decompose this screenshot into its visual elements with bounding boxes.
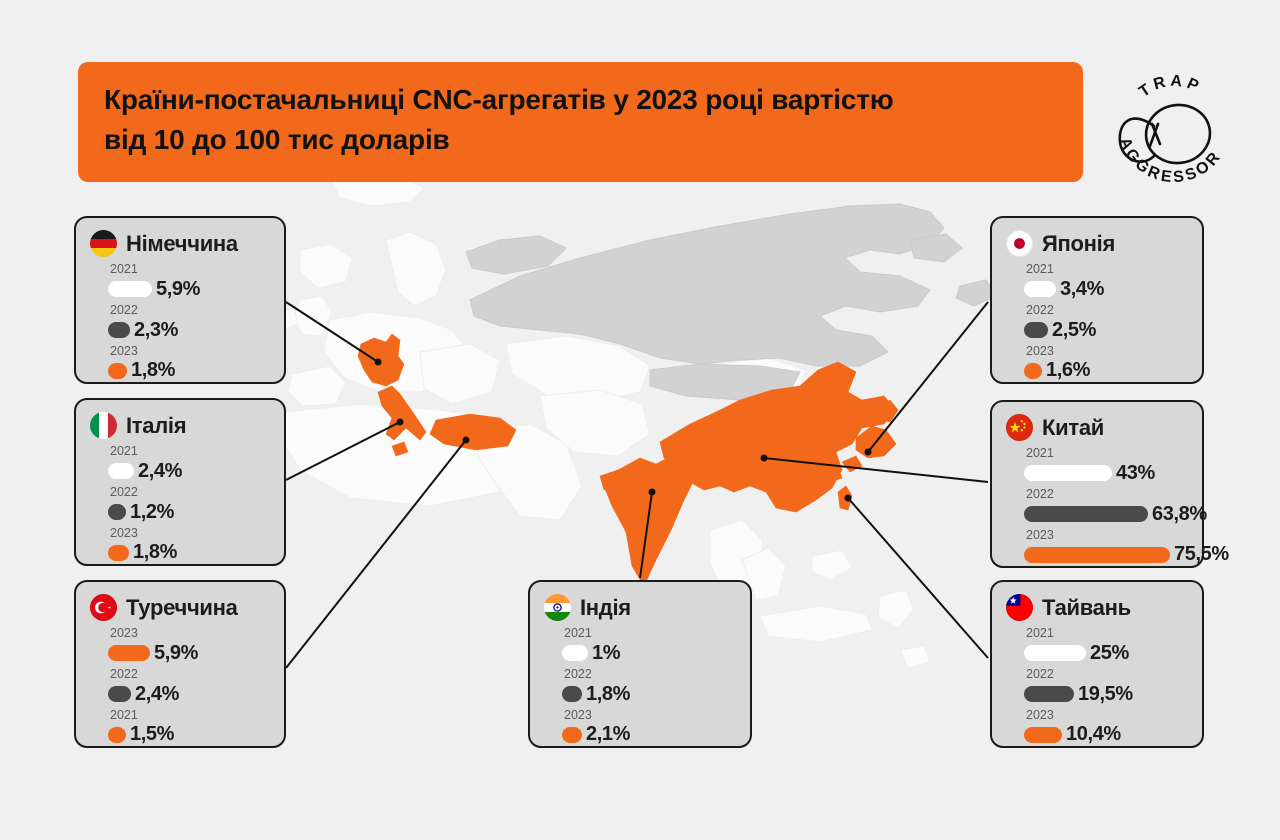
- bar-fill: [1024, 363, 1042, 379]
- bar-value: 5,9%: [156, 278, 200, 301]
- flag-icon-italy: [90, 412, 117, 439]
- card-header: Японія: [1006, 230, 1188, 257]
- bar-rows: 2021 5,9% 2022 2,3% 2023 1,8%: [90, 263, 270, 382]
- bar-year: 2023: [1026, 345, 1188, 359]
- country-card-china[interactable]: Китай 2021 43% 2022 63,8% 2023 75,5%: [990, 400, 1204, 568]
- infographic-canvas: Країни-постачальниці CNC-агрегатів у 202…: [0, 0, 1280, 840]
- bar-year: 2023: [564, 709, 736, 723]
- bar-value: 1,8%: [586, 683, 630, 706]
- bar-year: 2022: [110, 668, 270, 682]
- card-header: Німеччина: [90, 230, 270, 257]
- bar-rows: 2021 43% 2022 63,8% 2023 75,5%: [1006, 447, 1188, 566]
- bar-row: 2021 5,9%: [108, 263, 270, 301]
- card-header: Тайвань: [1006, 594, 1188, 621]
- country-card-germany[interactable]: Німеччина 2021 5,9% 2022 2,3% 2023 1,8%: [74, 216, 286, 384]
- bar-fill: [108, 322, 130, 338]
- bar-value: 19,5%: [1078, 683, 1133, 706]
- bar-fill: [562, 686, 582, 702]
- bar-fill: [1024, 322, 1048, 338]
- bar-value: 5,9%: [154, 642, 198, 665]
- bar-row: 2023 1,8%: [108, 527, 270, 565]
- map-country-japan-honshu: [856, 426, 896, 458]
- bar-row: 2022 19,5%: [1024, 668, 1188, 706]
- country-name: Індія: [580, 595, 631, 621]
- card-header: Індія: [544, 594, 736, 621]
- bar-row: 2021 1%: [562, 627, 736, 665]
- bar-year: 2022: [1026, 304, 1188, 318]
- bar-value: 2,5%: [1052, 319, 1096, 342]
- bar-rows: 2023 5,9% 2022 2,4% 2021 1,5%: [90, 627, 270, 746]
- svg-text:TRAP: TRAP: [1136, 73, 1204, 101]
- bar-fill: [562, 727, 582, 743]
- flag-icon-turkey: [90, 594, 117, 621]
- bar-fill: [108, 463, 134, 479]
- bar-year: 2023: [110, 627, 270, 641]
- bar-fill: [108, 545, 129, 561]
- bar-fill: [1024, 281, 1056, 297]
- bar-year: 2023: [1026, 529, 1188, 543]
- bar-row: 2023 5,9%: [108, 627, 270, 665]
- flag-icon-japan: [1006, 230, 1033, 257]
- bar-year: 2021: [110, 445, 270, 459]
- bar-year: 2021: [110, 709, 270, 723]
- country-name: Італія: [126, 413, 186, 439]
- card-header: Італія: [90, 412, 270, 439]
- bar-fill: [108, 686, 131, 702]
- bar-year: 2021: [1026, 447, 1188, 461]
- flag-icon-taiwan: [1006, 594, 1033, 621]
- bar-fill: [1024, 506, 1148, 522]
- bar-fill: [1024, 686, 1074, 702]
- bar-row: 2022 1,2%: [108, 486, 270, 524]
- bar-value: 2,4%: [138, 460, 182, 483]
- bar-year: 2022: [564, 668, 736, 682]
- map-country-taiwan: [838, 486, 852, 510]
- bar-rows: 2021 25% 2022 19,5% 2023 10,4%: [1006, 627, 1188, 746]
- logo-top-text: TRAP: [1136, 73, 1204, 101]
- bar-value: 3,4%: [1060, 278, 1104, 301]
- country-name: Туреччина: [126, 595, 238, 621]
- card-header: Китай: [1006, 414, 1188, 441]
- bar-row: 2021 2,4%: [108, 445, 270, 483]
- bar-fill: [108, 281, 152, 297]
- bar-fill: [1024, 727, 1062, 743]
- bar-value: 10,4%: [1066, 723, 1121, 746]
- bar-row: 2022 1,8%: [562, 668, 736, 706]
- bar-row: 2021 43%: [1024, 447, 1188, 485]
- bar-year: 2023: [1026, 709, 1188, 723]
- bar-value: 2,4%: [135, 683, 179, 706]
- bar-row: 2023 1,6%: [1024, 345, 1188, 383]
- bar-year: 2021: [1026, 627, 1188, 641]
- bar-year: 2022: [110, 304, 270, 318]
- country-card-japan[interactable]: Японія 2021 3,4% 2022 2,5% 2023 1,6%: [990, 216, 1204, 384]
- bar-fill: [108, 504, 126, 520]
- trap-aggressor-logo: TRAP AGGRESSOR: [1102, 52, 1242, 192]
- bar-row: 2022 2,4%: [108, 668, 270, 706]
- card-header: Туреччина: [90, 594, 270, 621]
- bar-value: 63,8%: [1152, 503, 1207, 526]
- bar-value: 2,3%: [134, 319, 178, 342]
- bar-year: 2023: [110, 527, 270, 541]
- country-card-turkey[interactable]: Туреччина 2023 5,9% 2022 2,4% 2021 1,5%: [74, 580, 286, 748]
- bar-year: 2022: [1026, 488, 1188, 502]
- flag-icon-germany: [90, 230, 117, 257]
- page-title-line-1: Країни-постачальниці CNC-агрегатів у 202…: [104, 80, 1057, 120]
- bar-row: 2022 63,8%: [1024, 488, 1188, 526]
- country-name: Німеччина: [126, 231, 238, 257]
- bar-value: 1%: [592, 642, 620, 665]
- bar-fill: [1024, 547, 1170, 563]
- bar-year: 2023: [110, 345, 270, 359]
- bar-row: 2022 2,5%: [1024, 304, 1188, 342]
- bar-rows: 2021 3,4% 2022 2,5% 2023 1,6%: [1006, 263, 1188, 382]
- flag-icon-india: [544, 594, 571, 621]
- bar-value: 1,6%: [1046, 359, 1090, 382]
- bar-value: 43%: [1116, 462, 1155, 485]
- bar-rows: 2021 1% 2022 1,8% 2023 2,1%: [544, 627, 736, 746]
- country-card-italy[interactable]: Італія 2021 2,4% 2022 1,2% 2023 1,8%: [74, 398, 286, 566]
- bar-value: 1,2%: [130, 501, 174, 524]
- bar-row: 2021 3,4%: [1024, 263, 1188, 301]
- bar-row: 2021 1,5%: [108, 709, 270, 747]
- bar-row: 2023 1,8%: [108, 345, 270, 383]
- country-card-india[interactable]: Індія 2021 1% 2022 1,8% 2023 2,1%: [528, 580, 752, 748]
- country-name: Китай: [1042, 415, 1104, 441]
- bar-value: 2,1%: [586, 723, 630, 746]
- bar-year: 2022: [1026, 668, 1188, 682]
- page-title: Країни-постачальниці CNC-агрегатів у 202…: [78, 62, 1083, 182]
- bar-year: 2021: [564, 627, 736, 641]
- bar-value: 25%: [1090, 642, 1129, 665]
- bar-year: 2022: [110, 486, 270, 500]
- bar-year: 2021: [1026, 263, 1188, 277]
- bar-fill: [1024, 645, 1086, 661]
- bar-fill: [108, 645, 150, 661]
- bar-fill: [108, 363, 127, 379]
- flag-icon-china: [1006, 414, 1033, 441]
- bar-row: 2023 2,1%: [562, 709, 736, 747]
- country-name: Тайвань: [1042, 595, 1131, 621]
- page-title-line-2: від 10 до 100 тис доларів: [104, 120, 1057, 160]
- bar-fill: [1024, 465, 1112, 481]
- bar-rows: 2021 2,4% 2022 1,2% 2023 1,8%: [90, 445, 270, 564]
- bar-year: 2021: [110, 263, 270, 277]
- bar-value: 75,5%: [1174, 543, 1229, 566]
- bar-row: 2021 25%: [1024, 627, 1188, 665]
- bar-row: 2023 75,5%: [1024, 529, 1188, 567]
- bar-value: 1,5%: [130, 723, 174, 746]
- bar-value: 1,8%: [131, 359, 175, 382]
- bar-fill: [562, 645, 588, 661]
- bar-row: 2022 2,3%: [108, 304, 270, 342]
- country-card-taiwan[interactable]: Тайвань 2021 25% 2022 19,5% 2023 10,4%: [990, 580, 1204, 748]
- bar-value: 1,8%: [133, 541, 177, 564]
- bar-row: 2023 10,4%: [1024, 709, 1188, 747]
- country-name: Японія: [1042, 231, 1115, 257]
- bar-fill: [108, 727, 126, 743]
